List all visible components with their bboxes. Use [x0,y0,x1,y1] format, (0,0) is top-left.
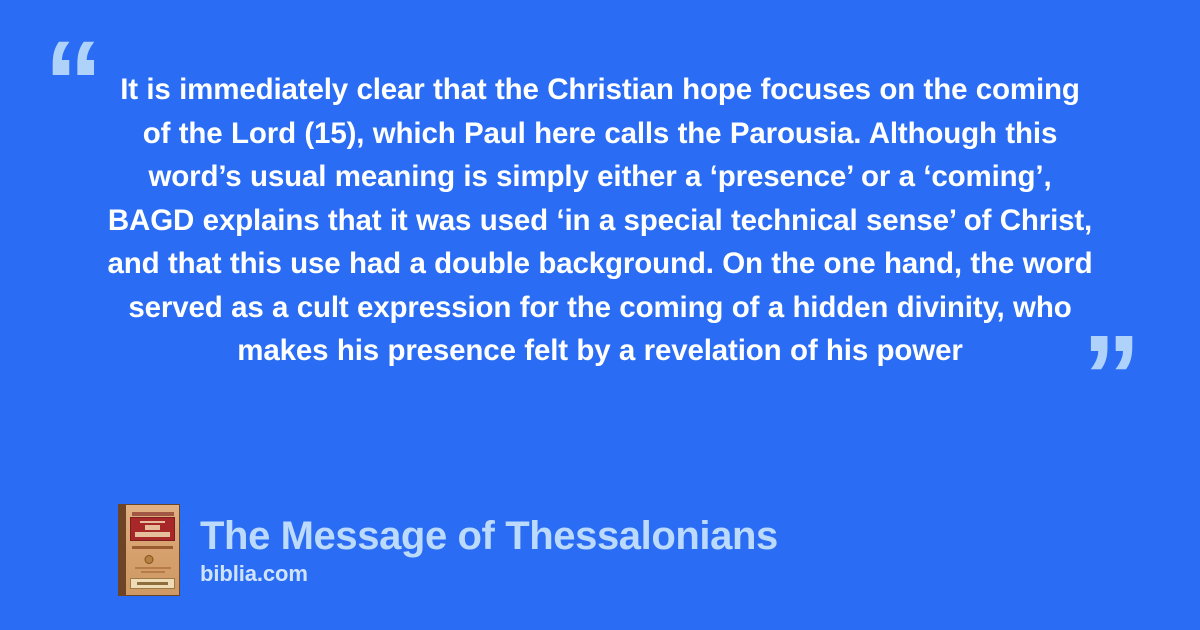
site-label: biblia.com [200,561,778,587]
opening-quote-mark-icon: “ [44,24,101,142]
book-seal-icon [145,555,154,564]
attribution-footer: The Message of Thessalonians biblia.com [118,504,778,596]
book-title-line-1 [140,521,166,523]
book-subtitle-line-1 [135,567,171,569]
closing-quote-mark-icon: ” [1082,318,1139,436]
quote-card: “ It is immediately clear that the Chris… [0,0,1200,630]
book-subtitle-line-2 [141,571,165,573]
book-title-label: The Message of Thessalonians [200,514,778,558]
book-series-block [130,578,175,589]
quote-text: It is immediately clear that the Christi… [104,68,1096,373]
book-series-line [137,582,168,585]
book-title-line-3 [135,532,170,537]
book-title-line-2 [145,525,160,530]
book-spine [119,505,126,595]
book-author-line [132,546,173,549]
quote-block: “ It is immediately clear that the Chris… [0,0,1200,470]
attribution-text: The Message of Thessalonians biblia.com [200,514,778,587]
book-title-block [130,517,175,541]
book-publisher-mark [132,512,174,516]
book-cover-thumbnail-icon [118,504,180,596]
